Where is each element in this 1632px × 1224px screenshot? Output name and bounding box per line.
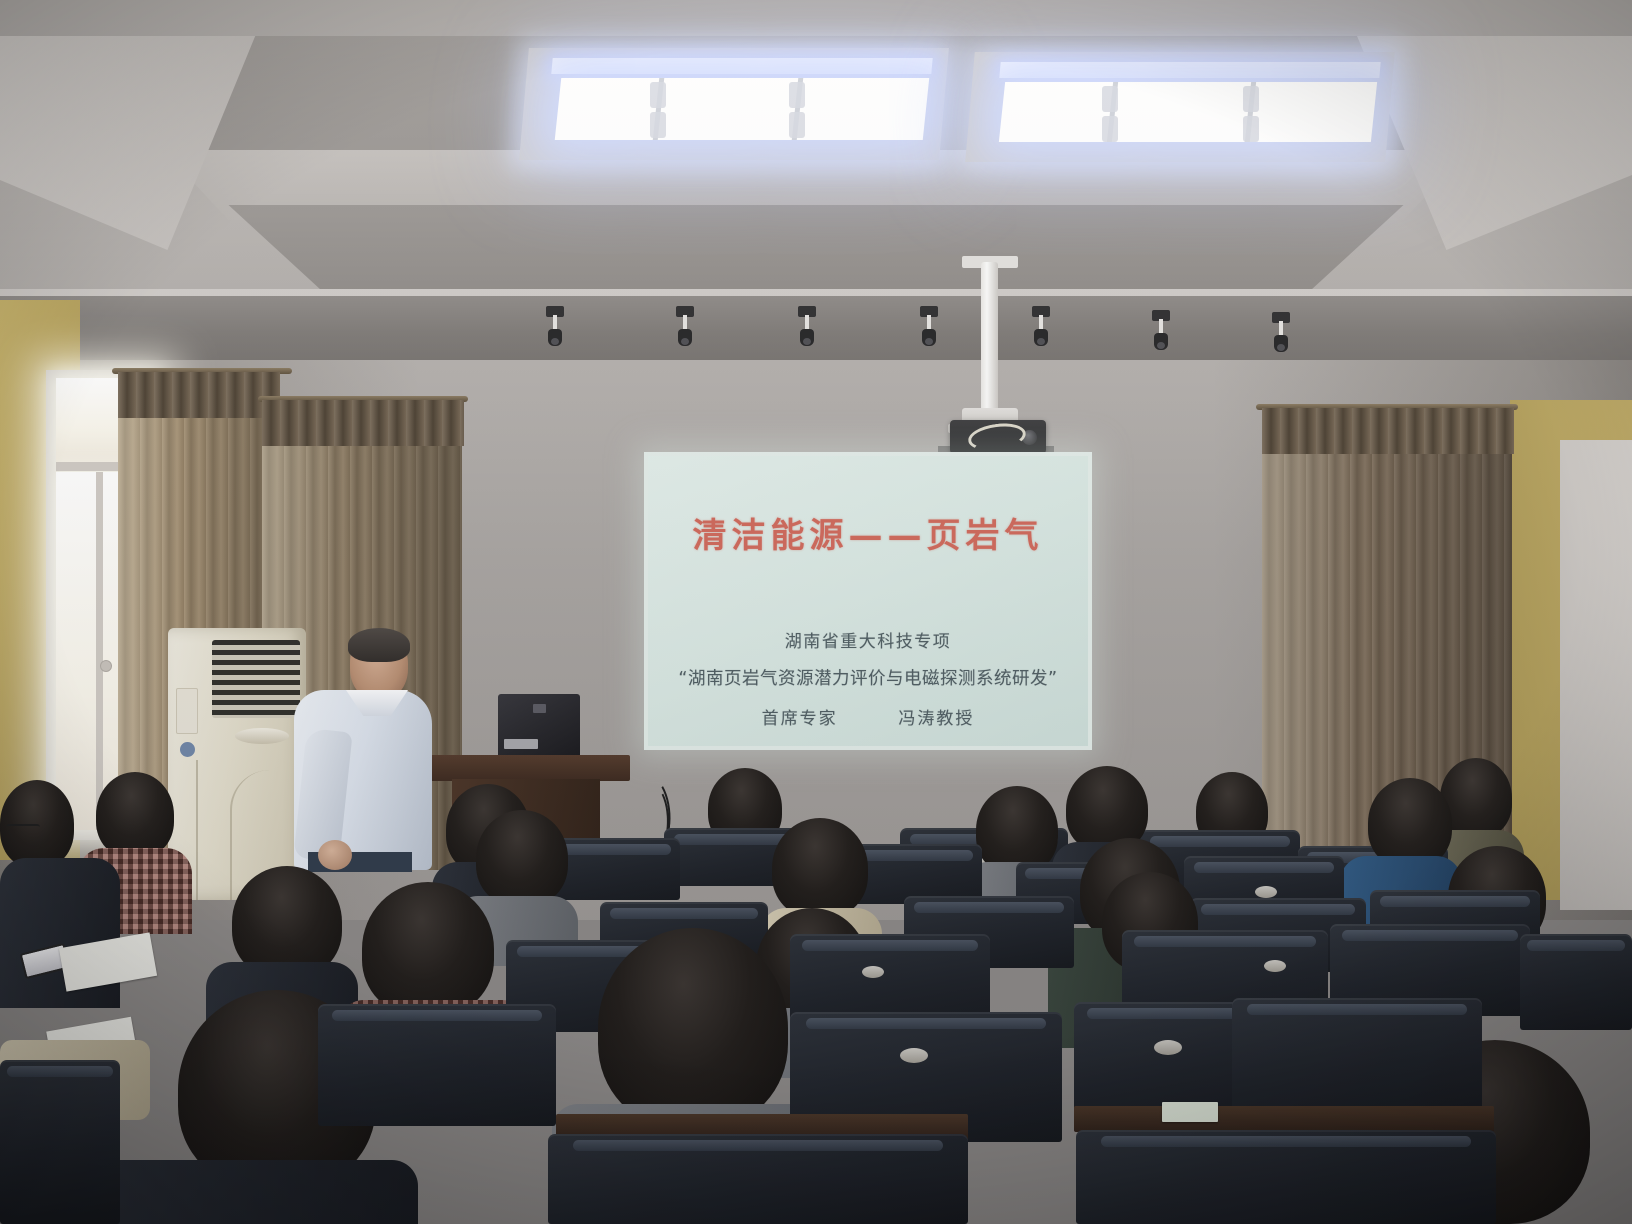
seat-emblem-icon [1255,886,1277,898]
slide-speaker-line: 首席专家 冯涛教授 [762,704,975,729]
ceiling-light-panel-left [555,78,930,140]
slide-title: 清洁能源——页岩气 [693,508,1044,557]
air-conditioner-seam [196,760,198,900]
presenter-hand [318,840,352,870]
curtain-header-right [1262,408,1514,454]
laptop-label [504,739,538,749]
audience-head [1368,778,1452,868]
seat-emblem-icon [900,1048,928,1063]
ceiling-top-band [0,0,1632,36]
projection-screen: 清洁能源——页岩气 湖南省重大科技专项 “湖南页岩气资源潜力评价与电磁探测系统研… [644,452,1092,750]
lamp-clip [650,112,666,138]
curtain-header-left [118,372,280,418]
air-conditioner-control-panel[interactable] [176,688,198,734]
slide-role-label: 首席专家 [762,709,838,729]
audience-head [976,786,1058,874]
curtain-header-left-2 [262,400,464,446]
eyeglasses-icon [6,824,40,833]
lamp-clip [789,112,805,138]
window-handle[interactable] [100,660,112,672]
lamp-clip [1102,86,1118,112]
track-spotlight-icon [1032,306,1050,356]
desk-rail [1074,1106,1494,1132]
seat [318,1004,556,1126]
audience-head [476,810,568,906]
presenter-hair [348,628,410,662]
seat-emblem-icon [862,966,884,978]
podium-top [424,755,630,781]
seat [0,1060,120,1224]
ceiling-beam [0,296,1632,366]
audience-head-foreground [598,928,788,1128]
ceiling-light-tube-rail-right [999,62,1380,78]
track-spotlight-icon [1152,310,1170,360]
air-conditioner-badge [235,728,289,744]
ceiling-light-panel-right [999,82,1377,142]
slide-subtitle-program: 湖南省重大科技专项 [785,627,952,652]
laptop-logo-icon [533,704,546,713]
track-spotlight-icon [920,306,938,356]
track-spotlight-icon [546,306,564,356]
ceiling-light-tube-rail-left [551,58,932,74]
seat-emblem-icon [1264,960,1286,972]
lamp-clip [650,82,666,108]
projector-mount-pole [981,262,998,417]
slide-subtitle-project: “湖南页岩气资源潜力评价与电磁探测系统研发” [678,665,1057,690]
lamp-clip [1243,116,1259,142]
track-spotlight-icon [676,306,694,356]
seat [1076,1130,1496,1224]
slide-speaker-name: 冯涛教授 [898,709,974,729]
slide-surface: 清洁能源——页岩气 湖南省重大科技专项 “湖南页岩气资源潜力评价与电磁探测系统研… [648,456,1088,746]
audience-head [96,772,174,858]
window-mullion-vertical [96,472,103,830]
lamp-clip [1102,116,1118,142]
seat-emblem-icon [1154,1040,1182,1055]
seat [1520,934,1632,1030]
air-conditioner-power-button[interactable] [180,742,195,757]
audience-head [362,882,494,1016]
air-conditioner-grille-icon [212,640,300,718]
lecture-hall-photo: 清洁能源——页岩气 湖南省重大科技专项 “湖南页岩气资源潜力评价与电磁探测系统研… [0,0,1632,1224]
paper-stack [1162,1102,1218,1122]
seat [548,1134,968,1224]
wall-pillar-right [1560,440,1632,910]
lamp-clip [1243,86,1259,112]
track-spotlight-icon [798,306,816,356]
track-spotlight-icon [1272,312,1290,362]
lamp-clip [789,82,805,108]
audience-torso [0,858,120,1008]
audience-head [772,818,868,918]
